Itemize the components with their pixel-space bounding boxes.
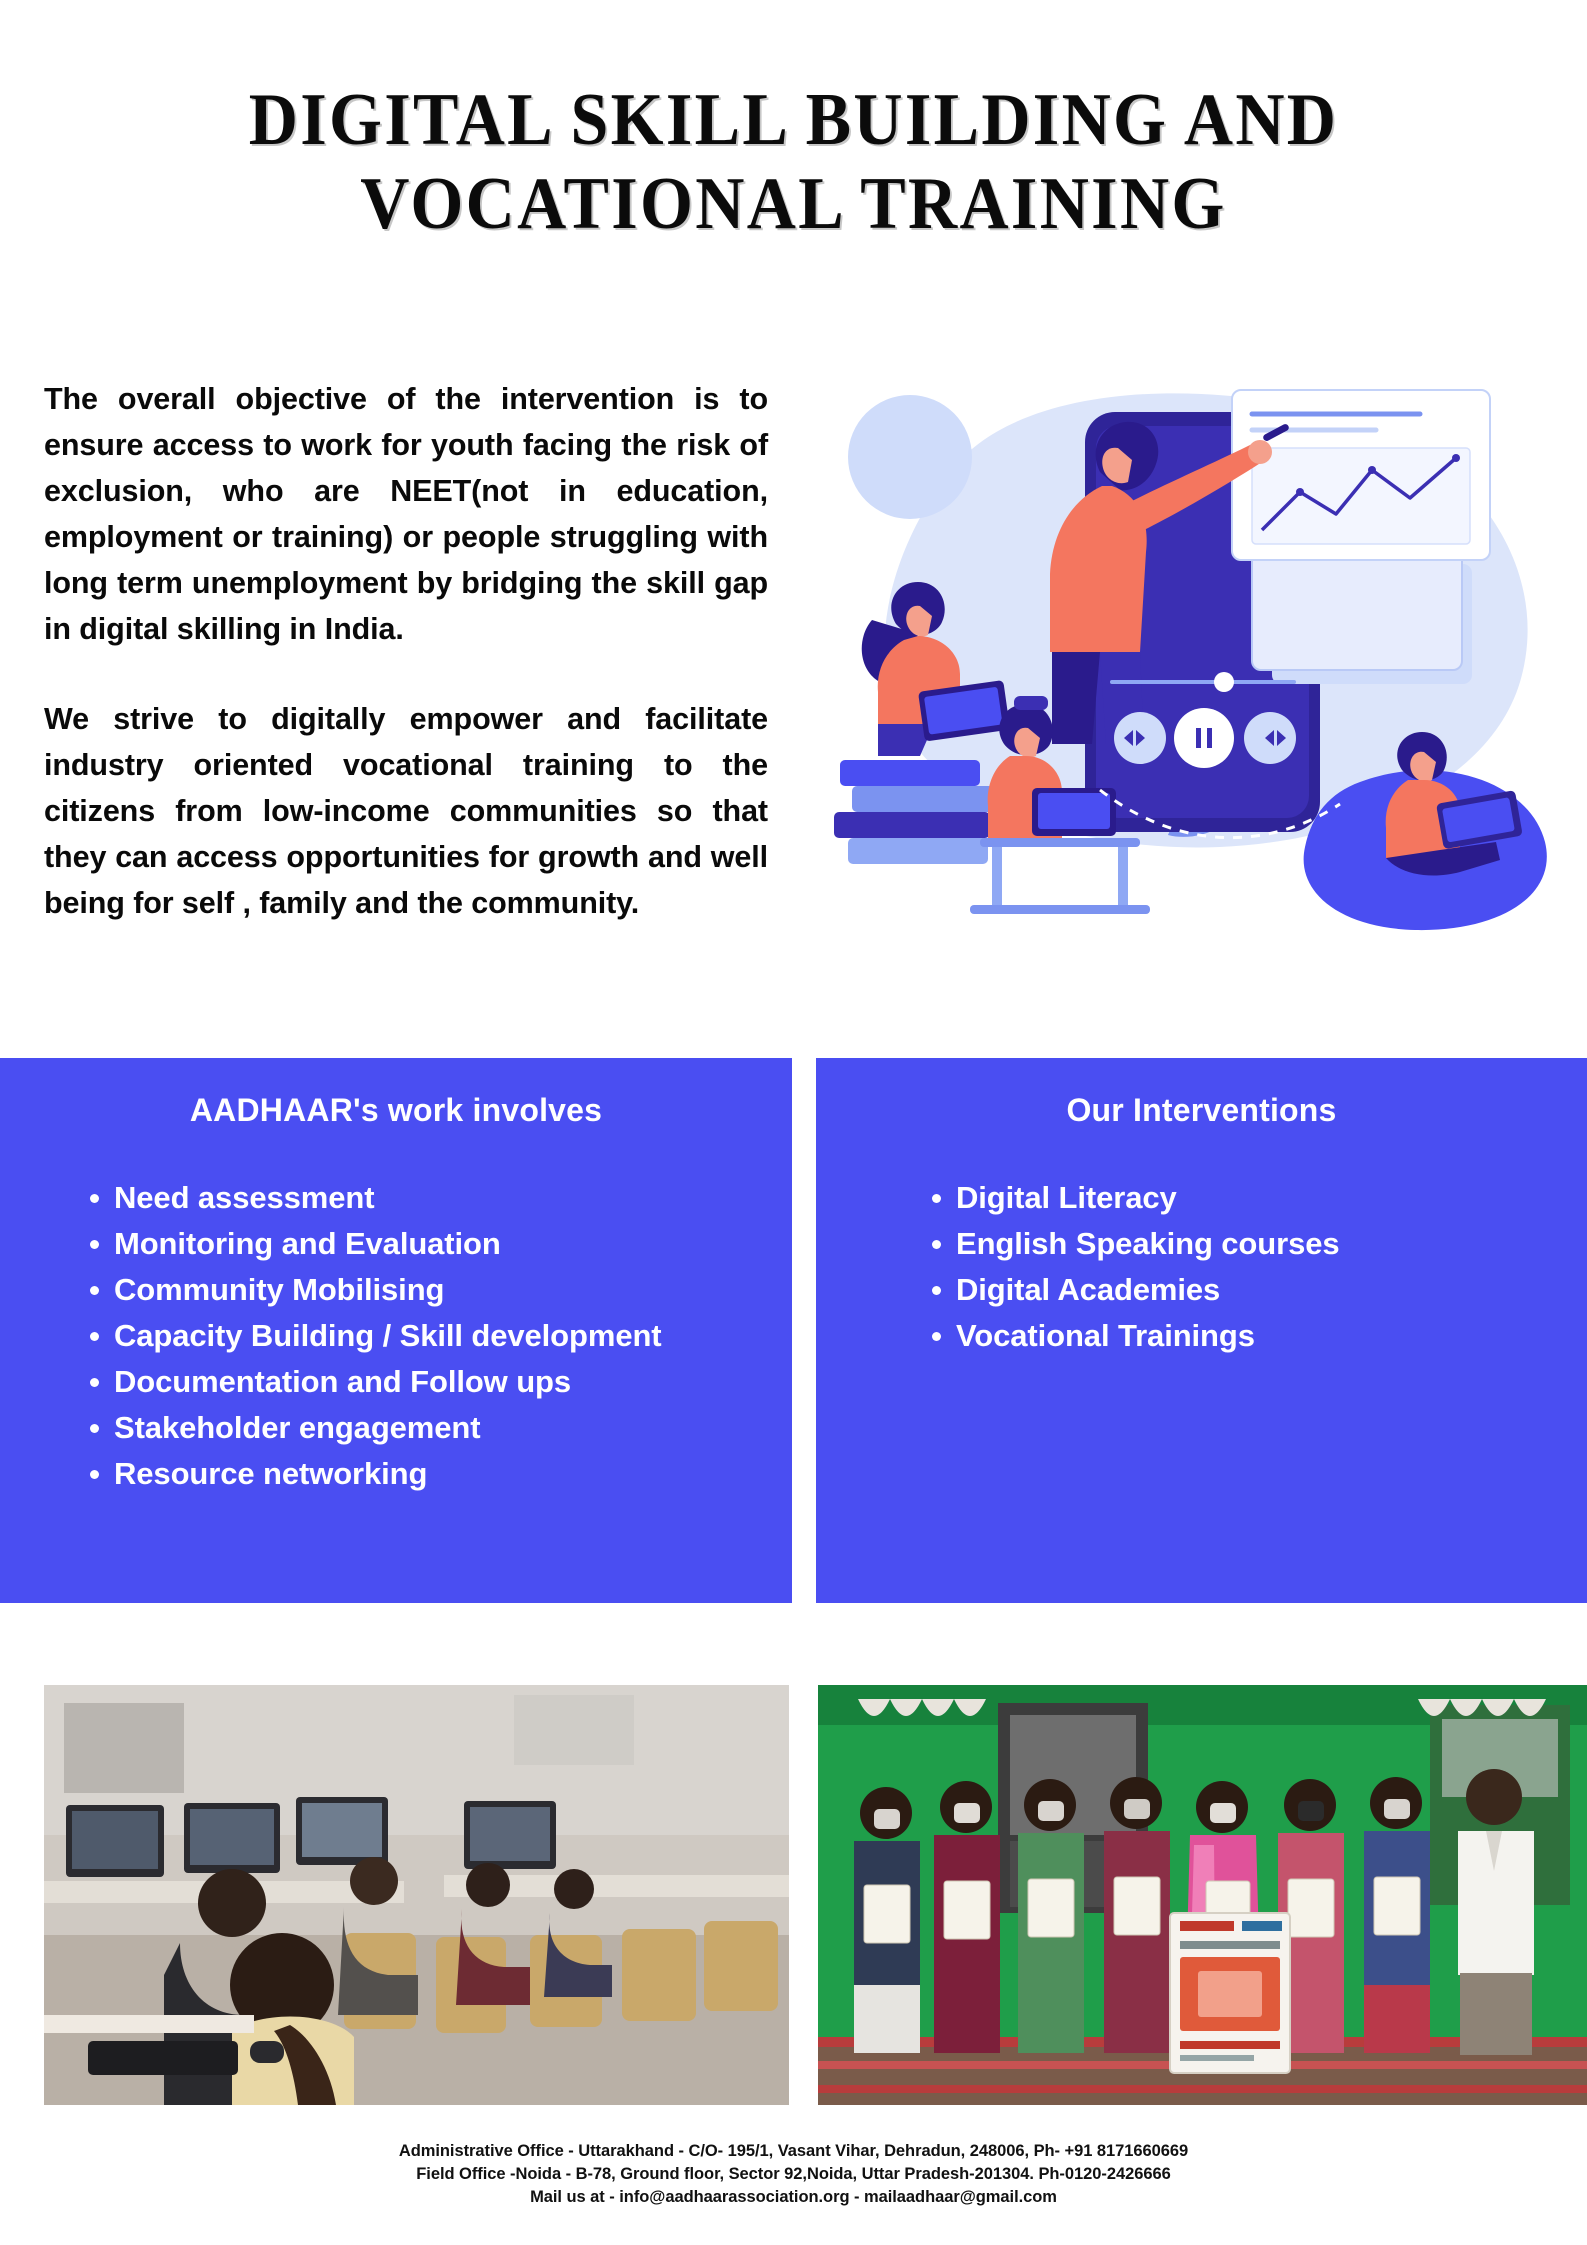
panel-our-interventions: Our Interventions Digital Literacy Engli… [816, 1058, 1587, 1603]
list-item: Need assessment [78, 1175, 768, 1221]
photo-row [0, 1685, 1587, 2105]
certificate-group-photo-svg [818, 1685, 1587, 2105]
panel-right-heading: Our Interventions [840, 1092, 1563, 1129]
poster-page: DIGITAL SKILL BUILDING AND VOCATIONAL TR… [0, 0, 1587, 2245]
page-title-line-1: DIGITAL SKILL BUILDING AND [63, 78, 1523, 162]
footer-line-2: Field Office -Noida - B-78, Ground floor… [0, 2163, 1587, 2186]
list-item: English Speaking courses [920, 1221, 1563, 1267]
footer-line-1: Administrative Office - Uttarakhand - C/… [0, 2140, 1587, 2163]
list-item: Vocational Trainings [920, 1313, 1563, 1359]
footer-contact: Administrative Office - Uttarakhand - C/… [0, 2140, 1587, 2209]
page-title: DIGITAL SKILL BUILDING AND VOCATIONAL TR… [0, 78, 1587, 246]
panel-right-list: Digital Literacy English Speaking course… [920, 1175, 1563, 1359]
intro-text-block: The overall objective of the interventio… [44, 376, 768, 926]
certificate-group-photo [818, 1685, 1587, 2105]
intro-paragraph-2: We strive to digitally empower and facil… [44, 696, 768, 926]
list-item: Capacity Building / Skill development [78, 1313, 768, 1359]
page-title-line-2: VOCATIONAL TRAINING [63, 162, 1523, 246]
list-item: Documentation and Follow ups [78, 1359, 768, 1405]
hero-illustration [800, 352, 1560, 952]
list-item: Digital Academies [920, 1267, 1563, 1313]
computer-lab-photo [44, 1685, 789, 2105]
list-item: Resource networking [78, 1451, 768, 1497]
panel-left-list: Need assessment Monitoring and Evaluatio… [78, 1175, 768, 1497]
list-item: Digital Literacy [920, 1175, 1563, 1221]
list-item: Monitoring and Evaluation [78, 1221, 768, 1267]
list-item: Community Mobilising [78, 1267, 768, 1313]
list-item: Stakeholder engagement [78, 1405, 768, 1451]
computer-lab-photo-svg [44, 1685, 789, 2105]
panel-aadhaar-work: AADHAAR's work involves Need assessment … [0, 1058, 792, 1603]
panel-left-heading: AADHAAR's work involves [24, 1092, 768, 1129]
footer-line-3: Mail us at - info@aadhaarassociation.org… [0, 2186, 1587, 2209]
intro-paragraph-1: The overall objective of the interventio… [44, 376, 768, 652]
elearning-illustration-svg [800, 352, 1560, 952]
